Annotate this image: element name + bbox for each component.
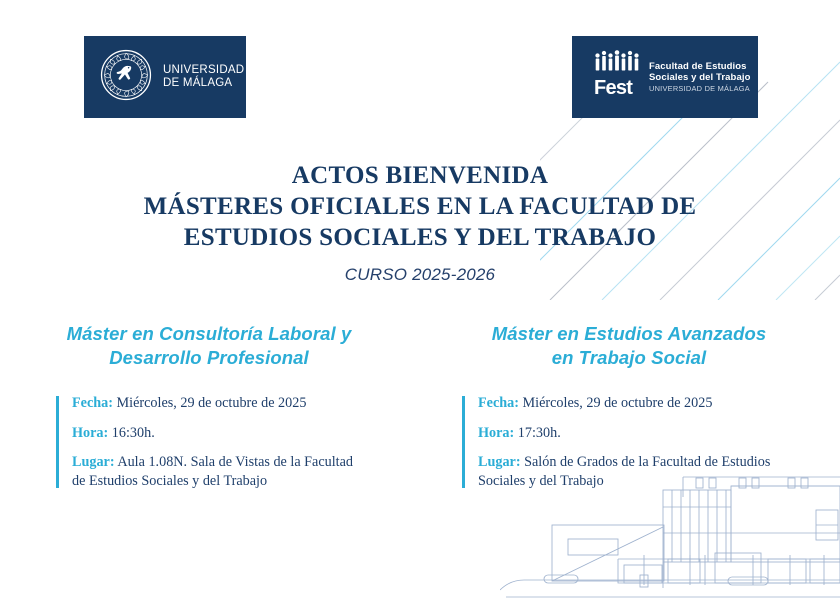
program-details-2: Fecha: Miércoles, 29 de octubre de 2025 … — [462, 394, 796, 490]
people-figures-icon — [595, 50, 638, 70]
detail-lugar-1: Lugar: Aula 1.08N. Sala de Vistas de la … — [72, 453, 362, 490]
programs-container: Máster en Consultoría Laboral y Desarrol… — [0, 322, 840, 490]
fecha-label: Fecha: — [72, 395, 113, 411]
program-title-1-line1: Máster en Consultoría Laboral y — [56, 322, 362, 346]
svg-text:Fest: Fest — [594, 77, 633, 99]
fest-line3: UNIVERSIDAD DE MÁLAGA — [649, 84, 750, 94]
fest-wordmark: Facultad de Estudios Sociales y del Trab… — [649, 61, 750, 94]
detail-fecha-2: Fecha: Miércoles, 29 de octubre de 2025 — [478, 394, 796, 413]
university-seal-icon — [100, 49, 152, 106]
title-line-1: ACTOS BIENVENIDA — [0, 160, 840, 191]
program-column-1: Máster en Consultoría Laboral y Desarrol… — [0, 322, 420, 490]
uma-wordmark: UNIVERSIDAD DE MÁLAGA — [163, 64, 244, 91]
program-column-2: Máster en Estudios Avanzados en Trabajo … — [420, 322, 840, 490]
uma-line2: DE MÁLAGA — [163, 77, 232, 89]
lugar-label: Lugar: — [72, 454, 115, 470]
lugar-label: Lugar: — [478, 454, 521, 470]
program-title-1-line2: Desarrollo Profesional — [56, 346, 362, 370]
title-line-2: MÁSTERES OFICIALES EN LA FACULTAD DE — [0, 191, 840, 222]
fest-mark-wrapper: Fest — [594, 50, 640, 105]
program-title-1: Máster en Consultoría Laboral y Desarrol… — [56, 322, 362, 370]
detail-fecha-1: Fecha: Miércoles, 29 de octubre de 2025 — [72, 394, 362, 413]
fecha-value: Miércoles, 29 de octubre de 2025 — [523, 395, 713, 411]
detail-lugar-2: Lugar: Salón de Grados de la Facultad de… — [478, 453, 796, 490]
hora-value: 17:30h. — [518, 425, 561, 441]
universidad-de-malaga-logo: UNIVERSIDAD DE MÁLAGA — [84, 36, 246, 118]
fest-line2: Sociales y del Trabajo — [649, 72, 750, 84]
program-title-2-line1: Máster en Estudios Avanzados — [462, 322, 796, 346]
detail-hora-2: Hora: 17:30h. — [478, 424, 796, 443]
program-title-2-line2: en Trabajo Social — [462, 346, 796, 370]
fecha-value: Miércoles, 29 de octubre de 2025 — [117, 395, 307, 411]
course-subtitle: CURSO 2025-2026 — [0, 265, 840, 285]
program-details-1: Fecha: Miércoles, 29 de octubre de 2025 … — [56, 394, 362, 490]
fest-line1: Facultad de Estudios — [649, 61, 750, 73]
program-title-2: Máster en Estudios Avanzados en Trabajo … — [462, 322, 796, 370]
detail-hora-1: Hora: 16:30h. — [72, 424, 362, 443]
hora-value: 16:30h. — [112, 425, 155, 441]
page-title: ACTOS BIENVENIDA MÁSTERES OFICIALES EN L… — [0, 160, 840, 285]
fecha-label: Fecha: — [478, 395, 519, 411]
hora-label: Hora: — [478, 425, 514, 441]
uma-line1: UNIVERSIDAD — [163, 64, 244, 76]
hora-label: Hora: — [72, 425, 108, 441]
fest-logo: Fest Facultad de Estudios Sociales y del… — [572, 36, 758, 118]
poster-canvas: UNIVERSIDAD DE MÁLAGA Fest Facultad de E… — [0, 0, 840, 600]
title-line-3: ESTUDIOS SOCIALES Y DEL TRABAJO — [0, 222, 840, 253]
lugar-value: Salón de Grados de la Facultad de Estudi… — [478, 454, 770, 489]
lugar-value: Aula 1.08N. Sala de Vistas de la Faculta… — [72, 454, 353, 489]
